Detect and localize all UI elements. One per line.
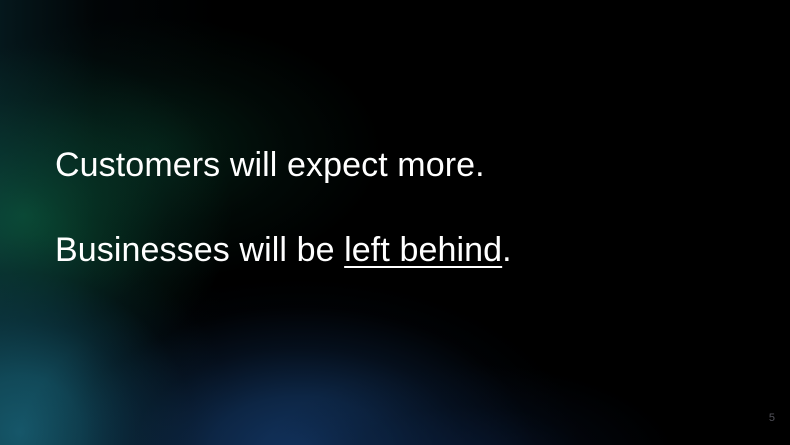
slide-line-2: Businesses will be left behind. <box>55 233 745 267</box>
slide-line-1: Customers will expect more. <box>55 148 745 182</box>
slide-line-2-emphasis: left behind <box>344 231 502 269</box>
slide-line-2-prefix: Businesses will be <box>55 231 344 269</box>
slide-line-2-suffix: . <box>502 231 512 269</box>
presentation-slide: Customers will expect more. Businesses w… <box>0 0 790 445</box>
slide-body-text: Customers will expect more. Businesses w… <box>55 148 745 267</box>
page-number: 5 <box>769 413 775 424</box>
